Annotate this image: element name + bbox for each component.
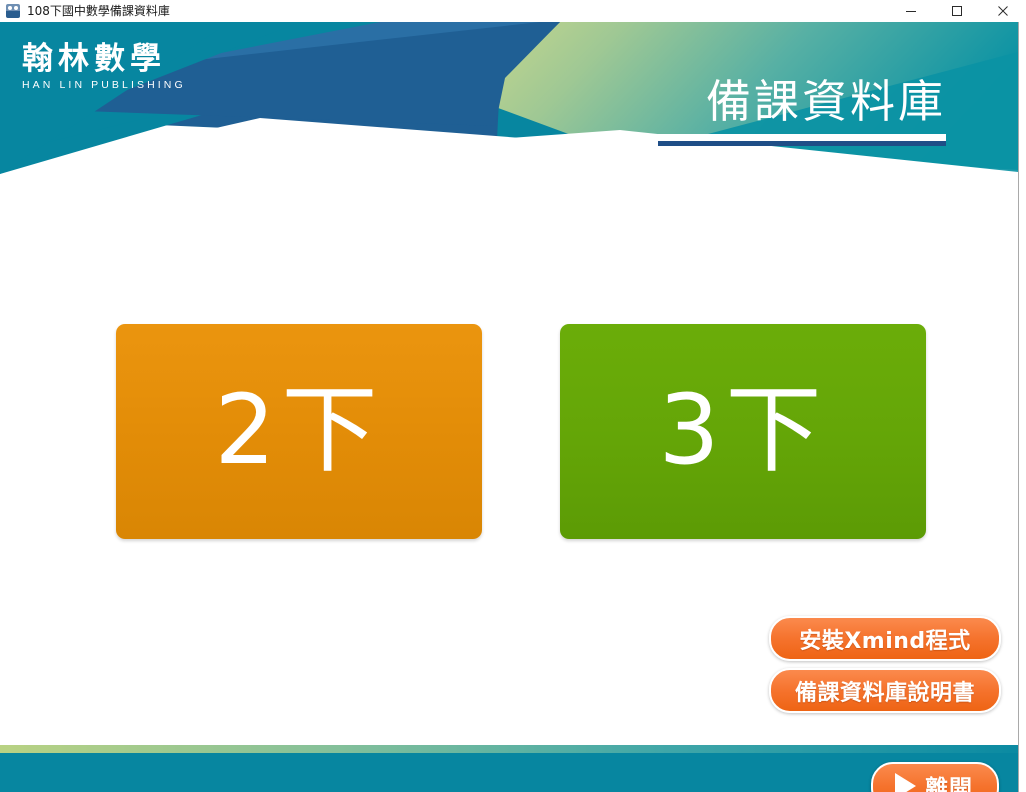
- database-manual-button[interactable]: 備課資料庫說明書: [769, 668, 1001, 713]
- window-title: 108下國中數學備課資料庫: [27, 0, 170, 22]
- semester-card-grade-2[interactable]: 2下: [116, 324, 482, 539]
- maximize-icon: [951, 5, 963, 17]
- semester-card-label: 2下: [214, 382, 383, 478]
- application-window: 108下國中數學備課資料庫: [0, 0, 1026, 792]
- title-underline: [658, 134, 946, 146]
- close-button[interactable]: [980, 0, 1026, 22]
- install-xmind-button[interactable]: 安裝Xmind程式: [769, 616, 1001, 661]
- footer-bar: [0, 753, 1018, 792]
- app-icon: [5, 3, 21, 19]
- minimize-button[interactable]: [888, 0, 934, 22]
- exit-button[interactable]: 離開: [871, 762, 999, 792]
- title-bar: 108下國中數學備課資料庫: [0, 0, 1026, 23]
- close-icon: [997, 5, 1009, 17]
- install-xmind-label: 安裝Xmind程式: [799, 623, 970, 655]
- page-title: 備課資料庫: [658, 77, 946, 146]
- database-manual-label: 備課資料庫說明書: [795, 675, 975, 707]
- semester-card-grade-3[interactable]: 3下: [560, 324, 926, 539]
- header-banner: 翰林數學 HAN LIN PUBLISHING 備課資料庫: [0, 22, 1018, 182]
- page-title-text: 備課資料庫: [658, 77, 946, 127]
- semester-cards: 2下 3下: [0, 303, 1018, 523]
- scroll-gutter[interactable]: [1019, 22, 1026, 792]
- semester-card-label: 3下: [658, 382, 827, 478]
- exit-button-label: 離開: [925, 769, 973, 792]
- maximize-button[interactable]: [934, 0, 980, 22]
- window-controls: [888, 0, 1026, 22]
- window-content: 翰林數學 HAN LIN PUBLISHING 備課資料庫 2下 3下 安裝Xm…: [0, 22, 1019, 792]
- footer-gradient-strip: [0, 745, 1018, 753]
- minimize-icon: [905, 5, 917, 17]
- play-triangle-icon: [895, 773, 916, 792]
- action-buttons: 安裝Xmind程式 備課資料庫說明書: [769, 616, 1001, 720]
